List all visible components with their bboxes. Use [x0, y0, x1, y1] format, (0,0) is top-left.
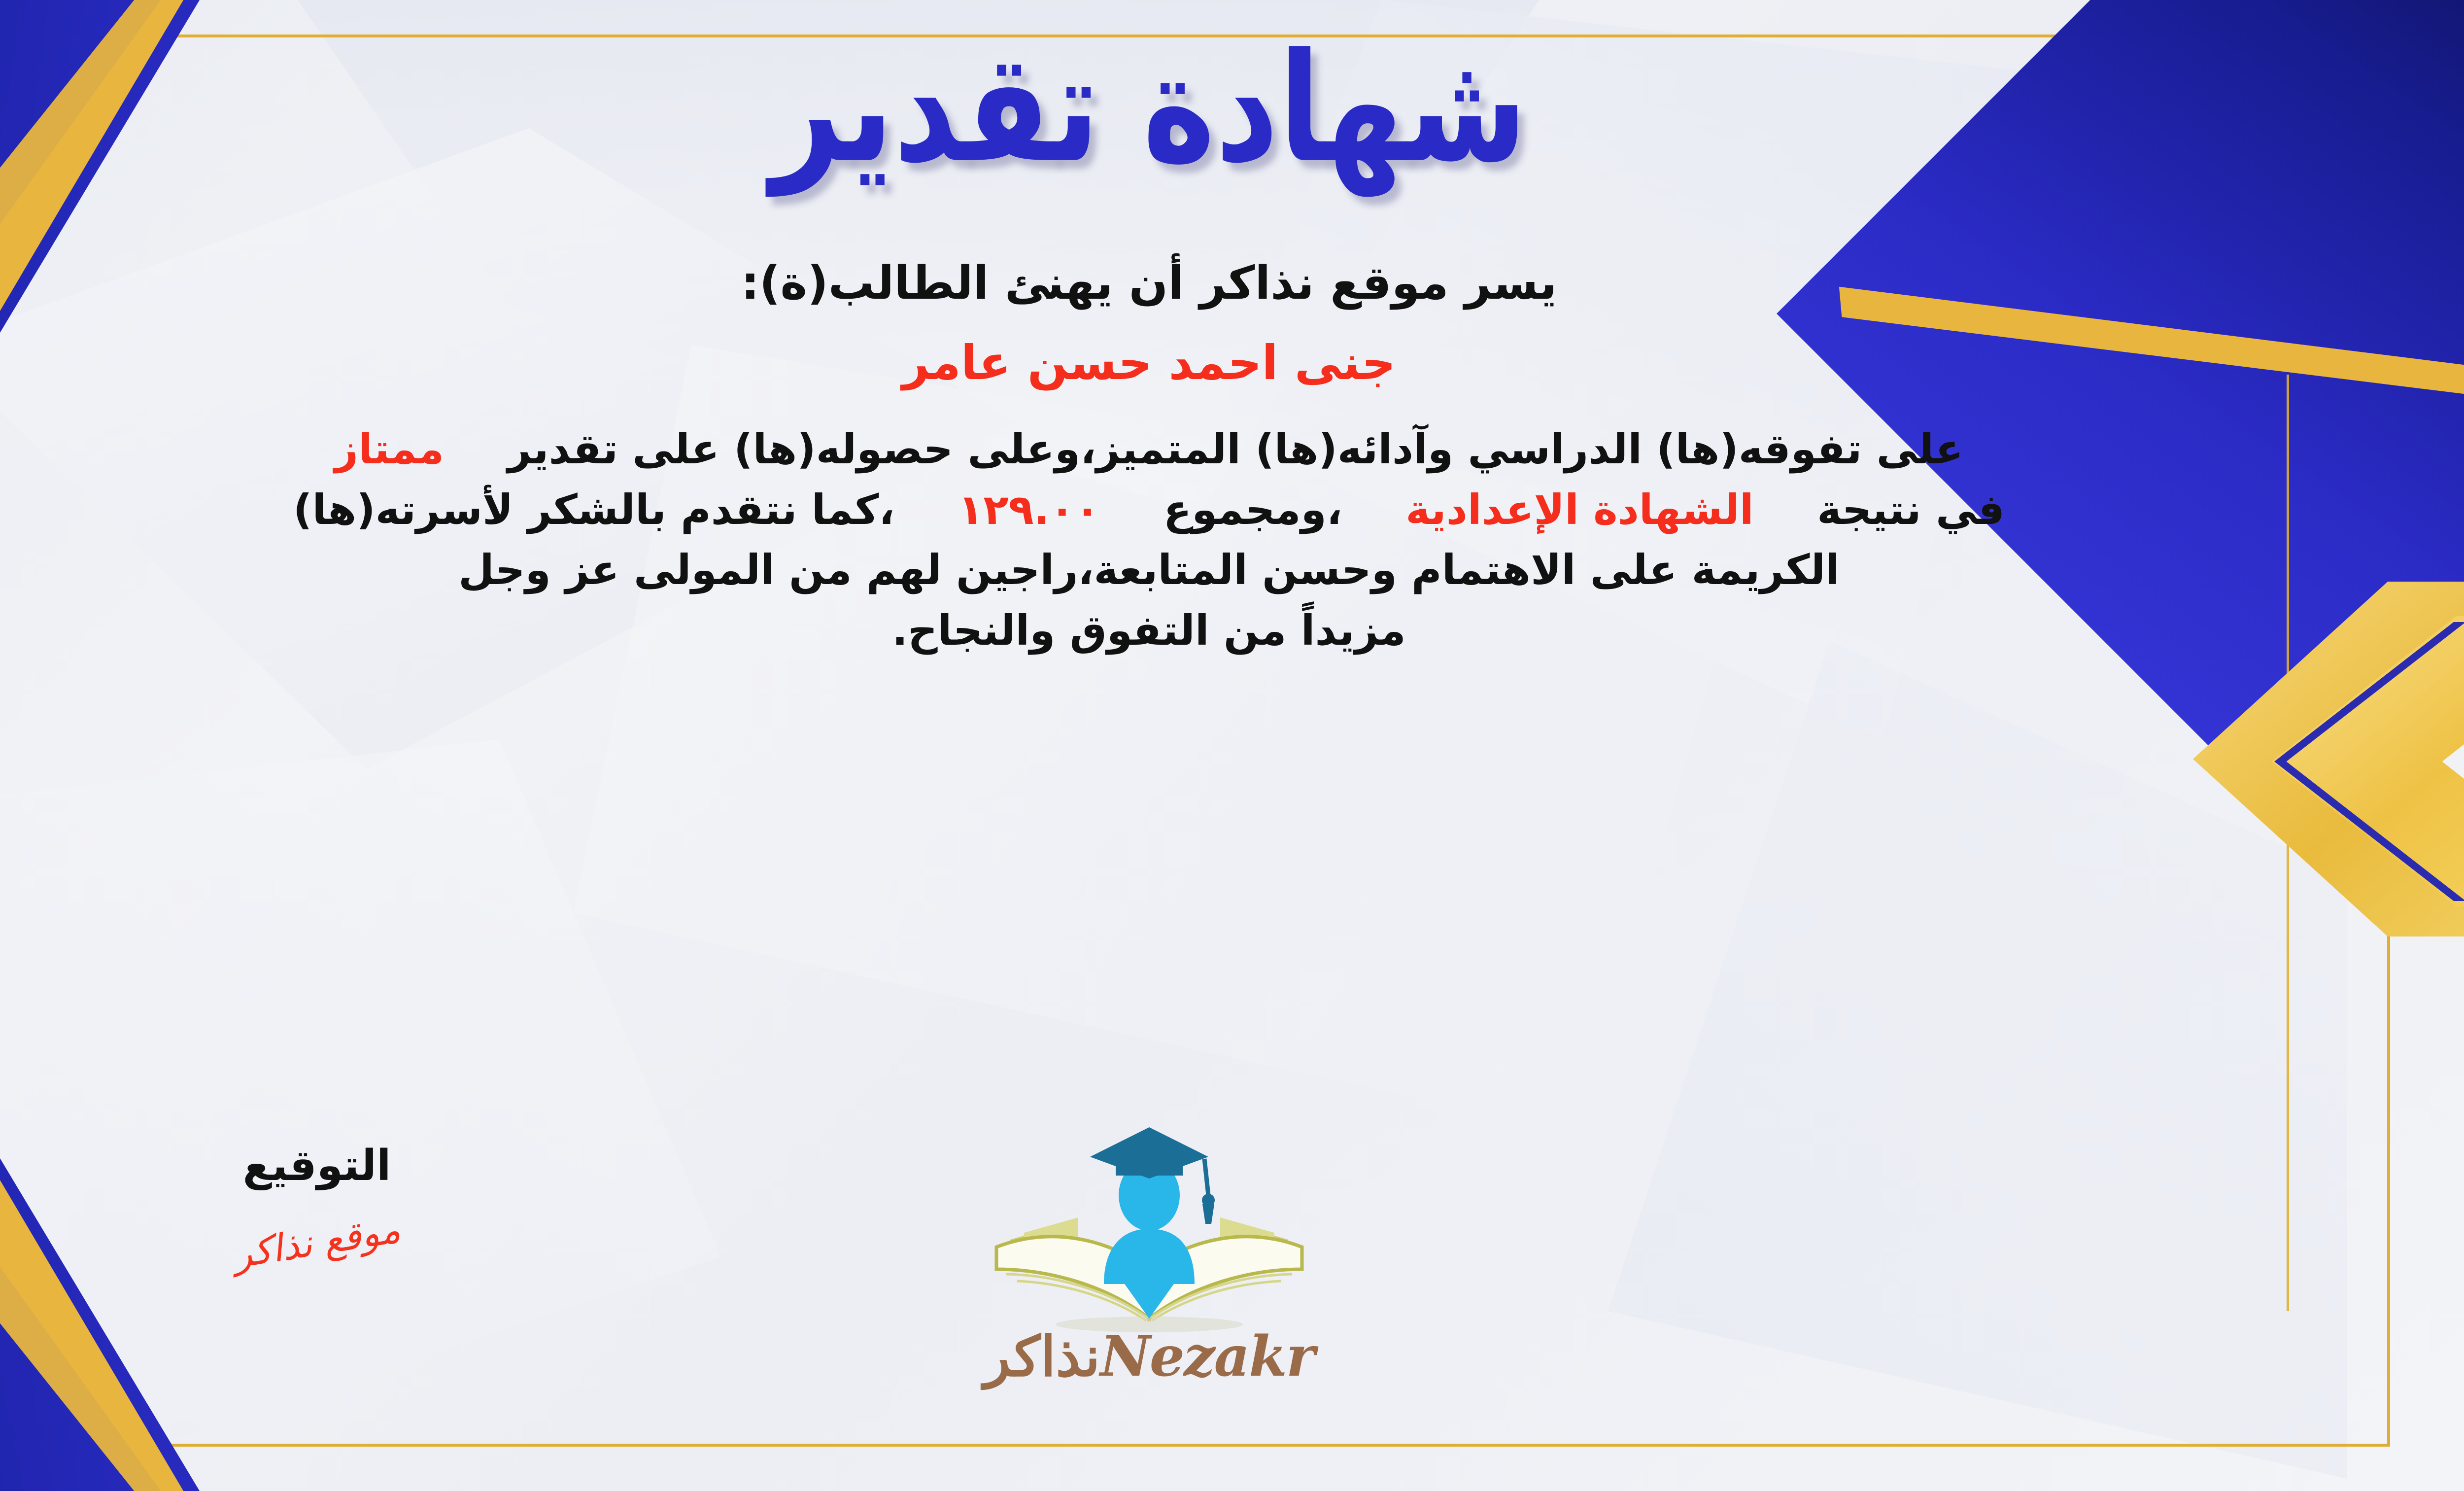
- logo-arabic-text: نذاكر: [984, 1324, 1100, 1389]
- certificate-canvas: شهادة تقدير يسر موقع نذاكر أن يهنئ الطال…: [0, 0, 2464, 1491]
- certificate-body: على تفوقه(ها) الدراسي وآدائه(ها) المتميز…: [0, 419, 2307, 661]
- certificate-footer: التوقيع موقع نذاكر: [0, 1121, 2464, 1417]
- logo-wordmark: Nezakrنذاكر: [984, 1324, 1314, 1389]
- grade-value: ممتاز: [335, 425, 445, 473]
- body-line-2-mid: ،ومجموع: [1164, 485, 1342, 534]
- congratulation-intro-line: يسر موقع نذاكر أن يهنئ الطالب(ة):: [741, 256, 1557, 310]
- exam-name: الشهادة الإعدادية: [1405, 485, 1753, 534]
- body-line-2-suffix: ،كما نتقدم بالشكر لأسرته(ها): [293, 485, 894, 534]
- total-score-value: ١٢٩.٠٠: [958, 485, 1100, 534]
- body-line-2-prefix: في نتيجة: [1817, 485, 2005, 534]
- body-line-4: مزيداً من التفوق والنجاح.: [0, 600, 2307, 661]
- certificate-title: شهادة تقدير: [771, 34, 1527, 184]
- body-line-1: على تفوقه(ها) الدراسي وآدائه(ها) المتميز…: [0, 419, 2307, 480]
- student-name: جنى احمد حسن عامر: [902, 335, 1396, 390]
- body-line-1-text: على تفوقه(ها) الدراسي وآدائه(ها) المتميز…: [508, 425, 1964, 473]
- body-line-3: الكريمة على الاهتمام وحسن المتابعة،راجين…: [0, 540, 2307, 600]
- logo-latin-text: Nezakr: [1100, 1324, 1314, 1389]
- site-logo: Nezakrنذاكر: [0, 1121, 2464, 1389]
- graduate-over-open-book-icon: [977, 1121, 1322, 1338]
- body-line-2: في نتيجة الشهادة الإعدادية ،ومجموع ١٢٩.٠…: [0, 480, 2307, 540]
